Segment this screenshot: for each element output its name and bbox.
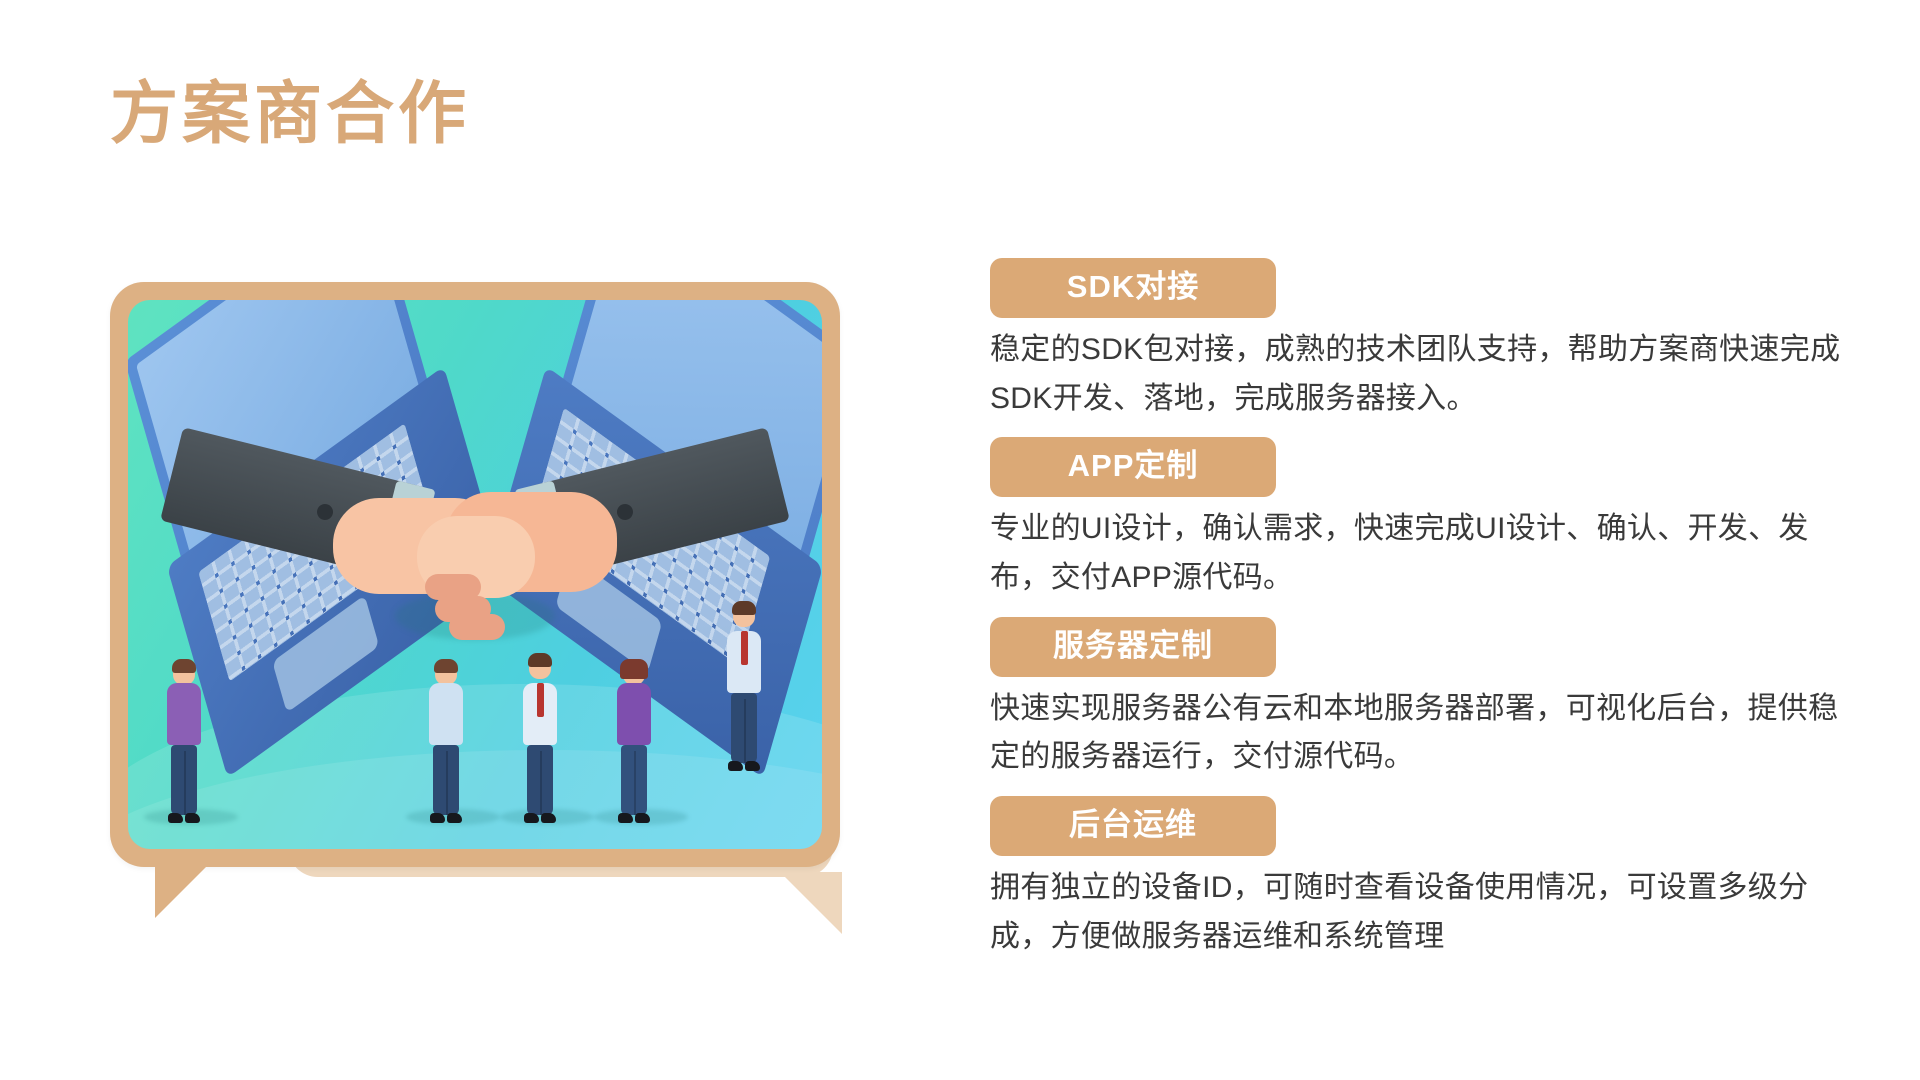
person-legs [433,745,459,815]
person-shoe-left [524,813,539,823]
feature-sdk-docking: SDK对接 稳定的SDK包对接，成熟的技术团队支持，帮助方案商快速完成SDK开发… [990,258,1850,423]
list-item [164,659,204,815]
necktie [537,683,544,717]
person-legs [527,745,553,815]
handshake-icon [325,488,625,638]
person-hair [172,659,196,673]
feature-backend-operations: 后台运维 拥有独立的设备ID，可随时查看设备使用情况，可设置多级分成，方便做服务… [990,796,1850,961]
person-shoe-right [635,813,650,823]
feature-description-app-customization: 专业的UI设计，确认需求，快速完成UI设计、确认、开发、发布，交付APP源代码。 [990,505,1850,602]
page-title: 方案商合作 [110,80,470,148]
feature-badge-backend-operations: 后台运维 [990,796,1276,856]
necktie [741,631,748,665]
list-item [724,601,764,763]
feature-app-customization: APP定制 专业的UI设计，确认需求，快速完成UI设计、确认、开发、发布，交付A… [990,437,1850,602]
person-torso [523,683,557,745]
person-shoe-right [447,813,462,823]
feature-description-sdk-docking: 稳定的SDK包对接，成熟的技术团队支持，帮助方案商快速完成SDK开发、落地，完成… [990,326,1850,423]
feature-server-customization: 服务器定制 快速实现服务器公有云和本地服务器部署，可视化后台，提供稳定的服务器运… [990,617,1850,782]
person-legs [731,693,757,763]
person-head [623,659,645,685]
finger-3 [449,614,505,640]
person-shoe-left [430,813,445,823]
feature-badge-app-customization: APP定制 [990,437,1276,497]
person-hair [732,601,756,615]
person-torso [727,631,761,693]
speech-bubble-front [110,282,840,867]
feature-badge-sdk-docking: SDK对接 [990,258,1276,318]
list-item [426,659,466,815]
speech-bubble-front-tail [155,860,213,918]
person-shoe-right [541,813,556,823]
person-shoe-left [728,761,743,771]
list-item [520,653,560,815]
person-torso [167,683,201,745]
person-shoe-right [185,813,200,823]
person-torso [617,683,651,745]
feature-list: SDK对接 稳定的SDK包对接，成熟的技术团队支持，帮助方案商快速完成SDK开发… [990,258,1850,975]
person-legs [171,745,197,815]
person-head [733,601,755,627]
list-item [614,659,654,815]
illustration-speech-bubbles [110,282,900,952]
slide-root: 方案商合作 [0,0,1920,1080]
feature-description-backend-operations: 拥有独立的设备ID，可随时查看设备使用情况，可设置多级分成，方便做服务器运维和系… [990,864,1850,961]
handshake-illustration [128,300,822,849]
speech-bubble-back-tail [780,872,842,934]
person-hair [434,659,458,673]
person-shoe-right [745,761,760,771]
person-torso [429,683,463,745]
person-head [435,659,457,685]
person-head [529,653,551,679]
person-hair [528,653,552,667]
person-head [173,659,195,685]
person-shoe-left [618,813,633,823]
person-hair [620,659,648,679]
person-legs [621,745,647,815]
feature-description-server-customization: 快速实现服务器公有云和本地服务器部署，可视化后台，提供稳定的服务器运行，交付源代… [990,685,1850,782]
feature-badge-server-customization: 服务器定制 [990,617,1276,677]
person-shoe-left [168,813,183,823]
